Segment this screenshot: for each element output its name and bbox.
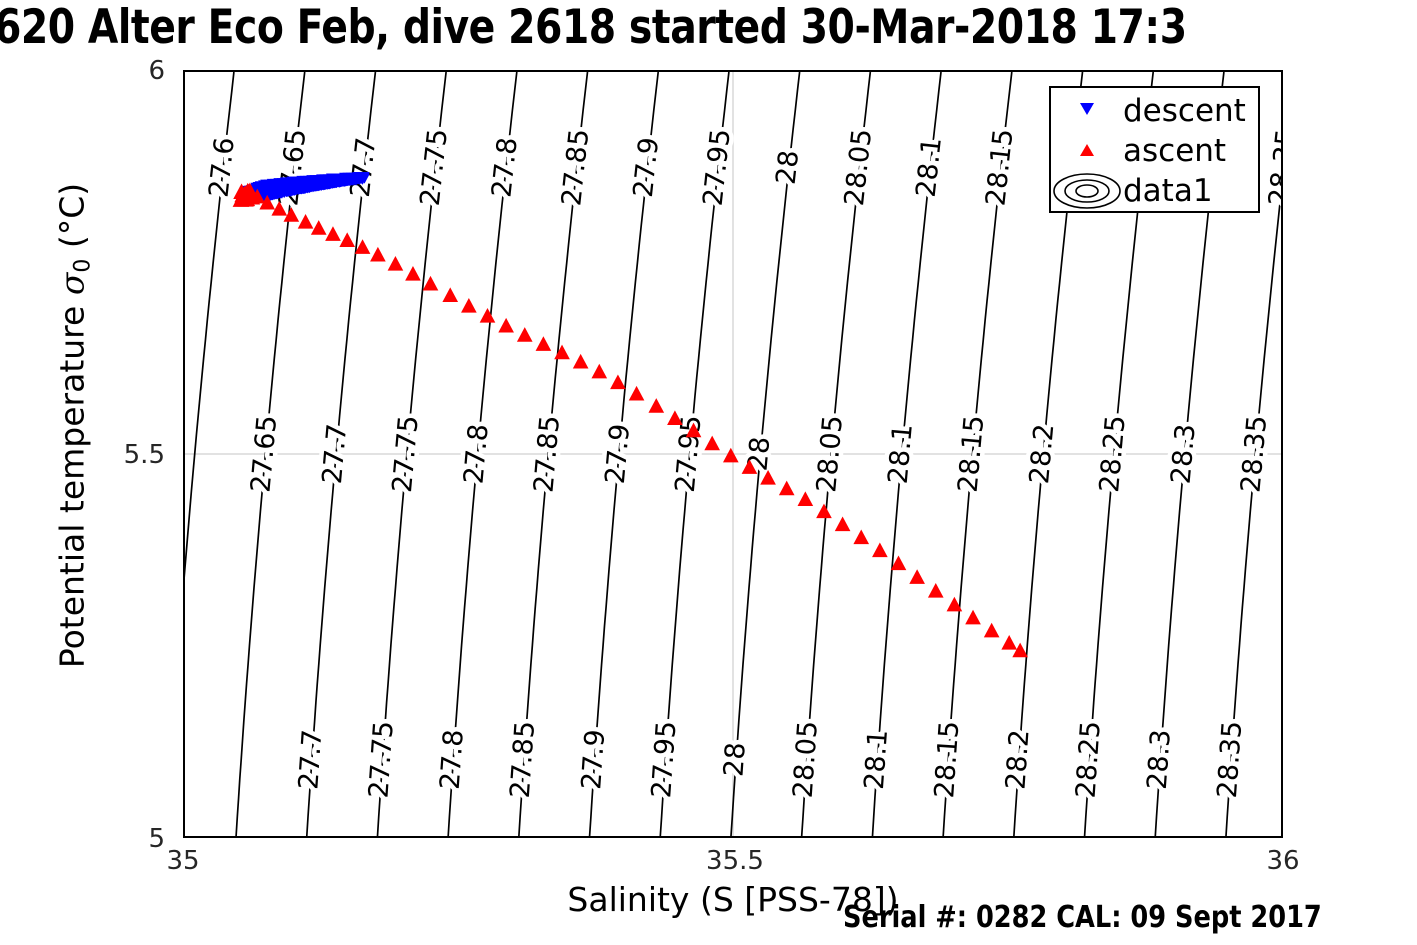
- contour-label: 28.25: [1094, 414, 1132, 494]
- data-point: [853, 530, 869, 545]
- contour-label: 28.15: [953, 414, 991, 494]
- contour-label: 27.9: [576, 728, 611, 790]
- contour-label: 27.95: [646, 720, 682, 799]
- contour-label: 27.9: [628, 136, 665, 199]
- data-point: [835, 517, 851, 532]
- data-point: [423, 276, 439, 291]
- contour-label: 27.65: [246, 414, 284, 494]
- y-axis-label: Potential temperature σ0 (°C): [53, 106, 96, 746]
- figure-canvas: 620 Alter Eco Feb, dive 2618 started 30-…: [0, 0, 1417, 945]
- contour-label: 27.7: [293, 728, 328, 790]
- data-point: [442, 287, 458, 302]
- contour-label: 28.1: [859, 728, 894, 790]
- data-point: [405, 266, 421, 281]
- contour-label: 28.15: [980, 127, 1019, 207]
- data-point: [909, 569, 925, 584]
- data-point: [370, 247, 386, 262]
- contour-label: 28.15: [929, 720, 965, 799]
- data-point: [480, 308, 496, 323]
- data-point: [872, 543, 888, 558]
- contour-label: 28.2: [1000, 728, 1035, 790]
- data-point: [965, 610, 981, 625]
- x-tick-label-36: 36: [1248, 846, 1318, 876]
- data-point: [461, 298, 477, 313]
- contour-label: 27.7: [345, 136, 382, 199]
- data-point: [610, 374, 626, 389]
- legend-item-descent[interactable]: descent: [1051, 90, 1262, 132]
- contour-label: 28.3: [1142, 728, 1177, 790]
- contour-label: 28.3: [1166, 423, 1202, 486]
- data-point: [388, 256, 404, 271]
- contour-label: 28.35: [1263, 127, 1281, 207]
- contour-label: 28.1: [883, 423, 919, 486]
- contour-label: 27.95: [698, 127, 737, 207]
- triangle-down-icon: [1051, 90, 1123, 132]
- y-tick-label-5-5: 5.5: [95, 440, 165, 470]
- contour-label: 28.35: [1212, 720, 1248, 799]
- contour-label: 27.95: [670, 414, 708, 494]
- contour-label: 27.75: [363, 720, 399, 799]
- figure-title: 620 Alter Eco Feb, dive 2618 started 30-…: [0, 2, 1389, 54]
- serial-cal-text: Serial #: 0282 CAL: 09 Sept 2017: [843, 900, 1322, 935]
- contour-label: 28.05: [788, 720, 824, 799]
- data-point: [325, 226, 341, 241]
- contour-label: 27.8: [486, 136, 523, 199]
- contour-label: 27.9: [600, 423, 636, 486]
- sigma-symbol: σ: [53, 273, 92, 296]
- y-axis-label-prefix: Potential temperature: [53, 295, 92, 668]
- contour-label: 27.85: [528, 414, 566, 494]
- data-point: [339, 232, 355, 247]
- data-point: [648, 398, 664, 413]
- data-point: [554, 345, 570, 360]
- triangle-up-icon: [1051, 130, 1123, 172]
- contour-label: 27.6: [204, 136, 241, 199]
- contour-label: 28.1: [911, 136, 948, 199]
- contour-label: 28: [718, 741, 751, 777]
- data-point: [298, 214, 314, 229]
- legend-label-data1: data1: [1123, 170, 1213, 212]
- contour-label: 27.75: [387, 414, 425, 494]
- data-point: [536, 336, 552, 351]
- contour-label: 28.05: [839, 127, 878, 207]
- contour-label: 28.05: [811, 414, 849, 494]
- data-point: [779, 481, 795, 496]
- contour-label: 27.8: [435, 728, 470, 790]
- x-tick-label-35: 35: [148, 846, 218, 876]
- legend-box[interactable]: descent ascent data1: [1049, 86, 1260, 213]
- data-point: [517, 327, 533, 342]
- series-ascent: [243, 186, 1028, 657]
- data-point: [498, 318, 514, 333]
- data-point: [798, 491, 814, 506]
- x-tick-label-35-5: 35.5: [698, 846, 772, 876]
- contour-ellipses-icon: [1051, 170, 1123, 212]
- contour-label: 28.35: [1236, 414, 1274, 494]
- legend-item-data1[interactable]: data1: [1051, 170, 1262, 212]
- y-axis-label-suffix: (°C): [53, 183, 92, 259]
- data-point: [704, 436, 720, 451]
- sigma-subscript: 0: [71, 259, 96, 273]
- legend-label-descent: descent: [1123, 90, 1246, 132]
- data-point: [573, 354, 589, 369]
- data-point: [928, 583, 944, 598]
- data-point: [311, 220, 327, 235]
- contour-label: 28: [771, 149, 806, 187]
- data-point: [1001, 635, 1017, 650]
- contour-label: 27.85: [556, 127, 595, 207]
- contour-labels: 27.627.627.6527.6527.6527.6527.727.727.7…: [204, 127, 1281, 799]
- legend-label-ascent: ascent: [1123, 130, 1226, 172]
- data-point: [591, 364, 607, 379]
- data-point: [816, 504, 832, 519]
- contour-label: 27.8: [458, 423, 494, 486]
- contour-label: 27.75: [415, 127, 454, 207]
- data-point: [1012, 643, 1028, 658]
- data-series: [233, 172, 1028, 657]
- data-point: [984, 623, 1000, 638]
- contour-label: 27.7: [317, 423, 353, 486]
- contour-label: 28.2: [1024, 423, 1060, 486]
- data-point: [723, 448, 739, 463]
- contour-label: 28.25: [1071, 720, 1107, 799]
- data-point: [629, 386, 645, 401]
- contour-label: 27.85: [505, 720, 541, 799]
- y-tick-label-6: 6: [95, 56, 165, 86]
- legend-item-ascent[interactable]: ascent: [1051, 130, 1262, 172]
